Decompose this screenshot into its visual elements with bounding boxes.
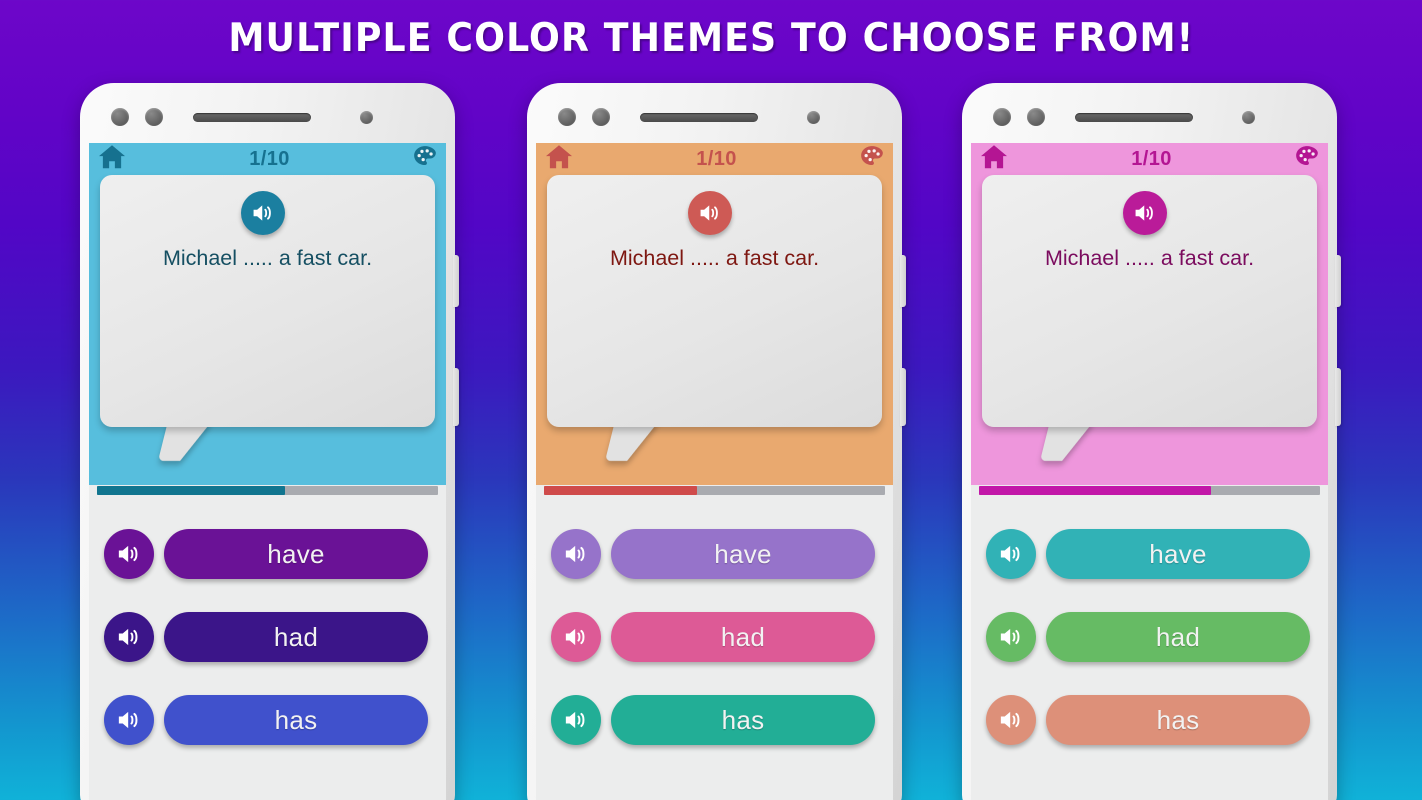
home-icon[interactable] — [979, 143, 1009, 177]
question-text: Michael ..... a fast car. — [1000, 243, 1299, 273]
palette-icon[interactable] — [412, 144, 438, 175]
bubble-tail — [605, 421, 659, 461]
power-button[interactable] — [1335, 368, 1341, 426]
answer-row: have — [89, 529, 446, 579]
page-title: MULTIPLE COLOR THEMES TO CHOOSE FROM! — [228, 16, 1194, 61]
answer-row: has — [536, 695, 893, 745]
speaker-icon[interactable] — [986, 529, 1036, 579]
answer-row: had — [89, 612, 446, 662]
palette-icon[interactable] — [859, 144, 885, 175]
earpiece-speaker-grille — [1075, 113, 1193, 122]
answer-label: has — [275, 705, 318, 736]
question-text: Michael ..... a fast car. — [565, 243, 864, 273]
answer-button-has[interactable]: has — [164, 695, 428, 745]
front-camera-icon — [111, 108, 129, 126]
question-bubble: Michael ..... a fast car. — [100, 175, 435, 427]
phone-screen: 1/10Michael ..... a fast car.havehadhas — [89, 143, 446, 800]
answer-label: has — [1157, 705, 1200, 736]
app-header: 1/10 — [89, 143, 446, 175]
light-sensor-icon — [807, 111, 820, 124]
light-sensor-icon — [1242, 111, 1255, 124]
speaker-icon[interactable] — [1123, 191, 1167, 235]
volume-button[interactable] — [453, 255, 459, 307]
answer-button-had[interactable]: had — [1046, 612, 1310, 662]
answer-button-has[interactable]: has — [1046, 695, 1310, 745]
phone-mockup-pink: 1/10Michael ..... a fast car.havehadhas — [962, 83, 1337, 800]
question-bubble: Michael ..... a fast car. — [547, 175, 882, 427]
answer-row: has — [89, 695, 446, 745]
answer-options-list: havehadhas — [536, 505, 893, 745]
speaker-icon[interactable] — [551, 695, 601, 745]
light-sensor-icon — [360, 111, 373, 124]
proximity-sensor-icon — [145, 108, 163, 126]
proximity-sensor-icon — [1027, 108, 1045, 126]
question-area: Michael ..... a fast car. — [971, 175, 1328, 485]
answer-label: had — [721, 622, 765, 653]
volume-button[interactable] — [1335, 255, 1341, 307]
earpiece-speaker-grille — [640, 113, 758, 122]
speaker-icon[interactable] — [241, 191, 285, 235]
answer-label: have — [1149, 539, 1207, 570]
speaker-icon[interactable] — [104, 529, 154, 579]
answer-button-had[interactable]: had — [611, 612, 875, 662]
answer-button-has[interactable]: has — [611, 695, 875, 745]
answer-options-list: havehadhas — [971, 505, 1328, 745]
progress-bar-fill — [979, 486, 1211, 495]
question-area: Michael ..... a fast car. — [536, 175, 893, 485]
phone-screen: 1/10Michael ..... a fast car.havehadhas — [971, 143, 1328, 800]
question-counter: 1/10 — [1131, 148, 1172, 171]
speaker-icon[interactable] — [551, 529, 601, 579]
answer-row: have — [536, 529, 893, 579]
speaker-icon[interactable] — [986, 695, 1036, 745]
answer-button-have[interactable]: have — [611, 529, 875, 579]
answer-button-have[interactable]: have — [164, 529, 428, 579]
speaker-icon[interactable] — [104, 612, 154, 662]
earpiece-speaker-grille — [193, 113, 311, 122]
progress-bar-track — [544, 486, 885, 495]
phone-mockup-blue: 1/10Michael ..... a fast car.havehadhas — [80, 83, 455, 800]
speaker-icon[interactable] — [688, 191, 732, 235]
app-header: 1/10 — [971, 143, 1328, 175]
question-counter: 1/10 — [696, 148, 737, 171]
front-camera-icon — [558, 108, 576, 126]
progress-bar-fill — [544, 486, 697, 495]
question-bubble: Michael ..... a fast car. — [982, 175, 1317, 427]
progress-bar-track — [97, 486, 438, 495]
palette-icon[interactable] — [1294, 144, 1320, 175]
proximity-sensor-icon — [592, 108, 610, 126]
answer-label: had — [274, 622, 318, 653]
speaker-icon[interactable] — [104, 695, 154, 745]
answer-row: had — [536, 612, 893, 662]
answer-label: have — [714, 539, 772, 570]
answer-button-have[interactable]: have — [1046, 529, 1310, 579]
power-button[interactable] — [900, 368, 906, 426]
answer-label: had — [1156, 622, 1200, 653]
progress-bar-track — [979, 486, 1320, 495]
answer-label: have — [267, 539, 325, 570]
front-camera-icon — [993, 108, 1011, 126]
home-icon[interactable] — [544, 143, 574, 177]
app-header: 1/10 — [536, 143, 893, 175]
answer-button-had[interactable]: had — [164, 612, 428, 662]
bubble-tail — [158, 421, 212, 461]
phone-top-bezel — [536, 91, 893, 143]
answer-options-list: havehadhas — [89, 505, 446, 745]
power-button[interactable] — [453, 368, 459, 426]
home-icon[interactable] — [97, 143, 127, 177]
answer-row: has — [971, 695, 1328, 745]
phone-screen: 1/10Michael ..... a fast car.havehadhas — [536, 143, 893, 800]
speaker-icon[interactable] — [551, 612, 601, 662]
promo-title-bar: MULTIPLE COLOR THEMES TO CHOOSE FROM! — [0, 0, 1422, 76]
answer-row: have — [971, 529, 1328, 579]
question-area: Michael ..... a fast car. — [89, 175, 446, 485]
bubble-tail — [1040, 421, 1094, 461]
progress-bar-fill — [97, 486, 285, 495]
phone-top-bezel — [971, 91, 1328, 143]
volume-button[interactable] — [900, 255, 906, 307]
phone-top-bezel — [89, 91, 446, 143]
speaker-icon[interactable] — [986, 612, 1036, 662]
question-counter: 1/10 — [249, 148, 290, 171]
answer-label: has — [722, 705, 765, 736]
question-text: Michael ..... a fast car. — [118, 243, 417, 273]
phone-mockup-orange: 1/10Michael ..... a fast car.havehadhas — [527, 83, 902, 800]
answer-row: had — [971, 612, 1328, 662]
